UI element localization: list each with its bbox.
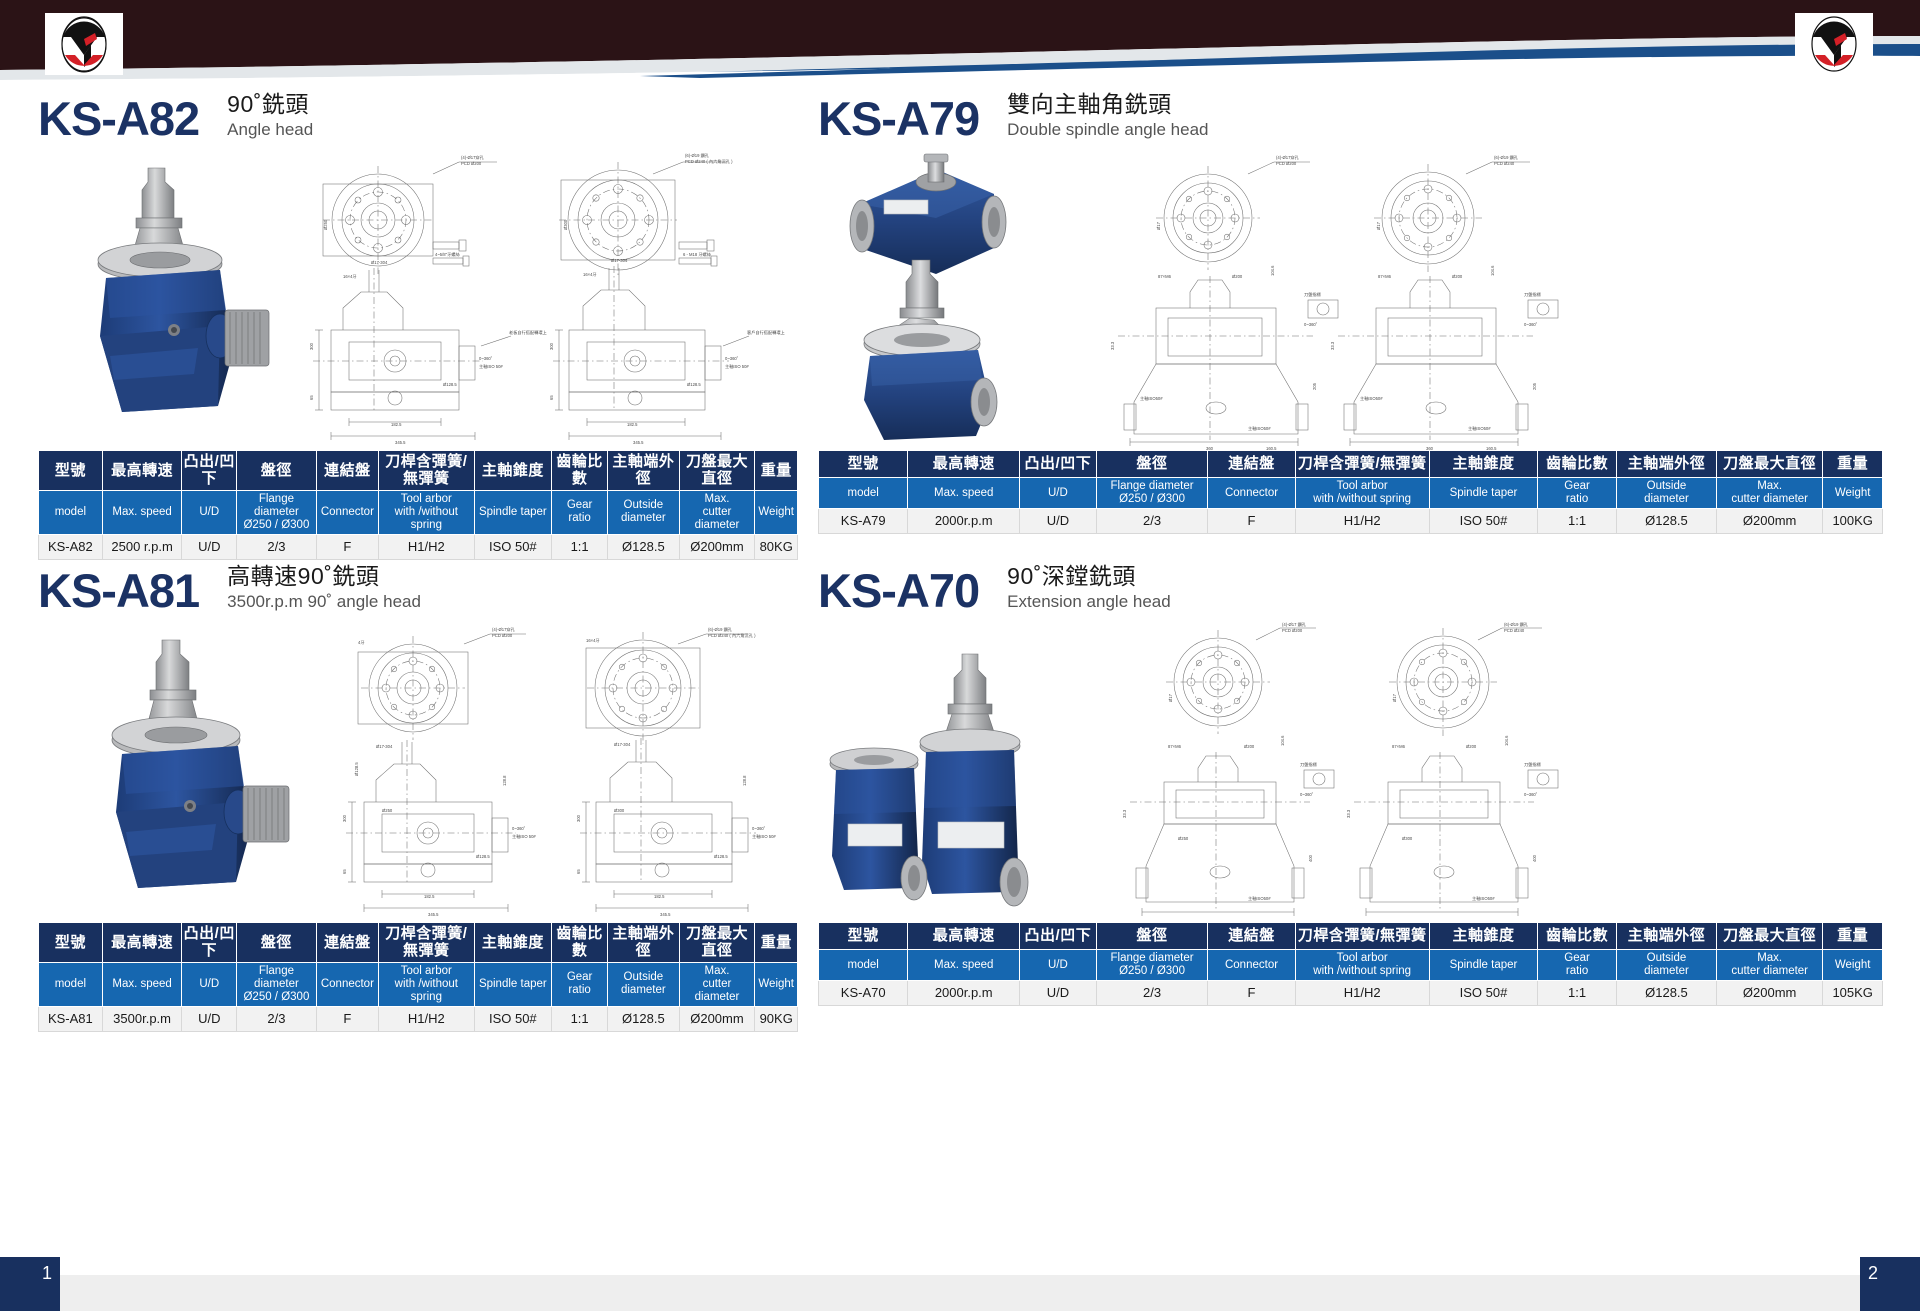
svg-text:16×4牙: 16×4牙 <box>586 638 600 644</box>
svg-text:主軸ISO 50#: 主軸ISO 50# <box>512 833 536 840</box>
svg-text:刀盤指標: 刀盤指標 <box>1300 761 1318 768</box>
cell-gear-ratio: 1:1 <box>552 1007 608 1032</box>
th-cn-ud: 凸出/凹下 <box>1020 451 1097 478</box>
svg-text:刀盤指標: 刀盤指標 <box>1304 291 1322 298</box>
svg-text:65: 65 <box>576 869 581 874</box>
product-photo <box>70 160 300 445</box>
page-number-right: 2 <box>1860 1257 1920 1311</box>
svg-text:182.5: 182.5 <box>627 422 638 427</box>
th-en-tool-arbor: Tool arborwith /without spring <box>1295 950 1429 981</box>
svg-text:主軸ISO 50#: 主軸ISO 50# <box>752 833 776 840</box>
th-en-max-cutter: Max.cutter diameter <box>1716 478 1822 509</box>
svg-text:205: 205 <box>1532 382 1537 390</box>
svg-text:Ø17: Ø17 <box>1392 693 1397 702</box>
svg-text:Ø300: Ø300 <box>1402 836 1413 841</box>
model-code: KS-A70 <box>818 567 979 614</box>
th-en-max-cutter: Max.cutter diameter <box>679 490 755 535</box>
th-en-ud: U/D <box>182 962 237 1007</box>
th-cn-outside-dia: 主軸端外徑 <box>608 923 679 963</box>
cell-max-speed: 2000r.p.m <box>908 509 1020 534</box>
table-header-en-row: model Max. speed U/D Flange diameterØ250… <box>819 478 1883 509</box>
th-cn-max-cutter: 刀盤最大直徑 <box>679 923 755 963</box>
cell-flange: 2/3 <box>1096 981 1208 1006</box>
svg-text:6 - M18 牙螺絲: 6 - M18 牙螺絲 <box>683 251 712 258</box>
table-header-cn-row: 型號 最高轉速 凸出/凹下 盤徑 連結盤 刀桿含彈簧/無彈簧 主軸錐度 齒輪比數… <box>39 451 798 491</box>
extension-angle-head-photo <box>818 626 1088 922</box>
svg-text:刀盤指標: 刀盤指標 <box>1524 761 1542 768</box>
svg-text:主軸ISO50#: 主軸ISO50# <box>1360 395 1383 402</box>
th-en-weight: Weight <box>755 490 798 535</box>
svg-text:345.5: 345.5 <box>660 912 671 917</box>
th-en-spindle-taper: Spindle taper <box>474 962 551 1007</box>
th-en-max-cutter: Max.cutter diameter <box>679 962 755 1007</box>
cell-outside-dia: Ø128.5 <box>1616 509 1716 534</box>
svg-text:Ø128.5: Ø128.5 <box>714 854 728 859</box>
dimension-drawings: (4)-Ø17 鑽孔 PCD Ø200 (6)-Ø19 鑽孔 PCD Ø240 … <box>1098 622 1878 922</box>
section-title-row: KS-A82 90˚銑頭 Angle head <box>38 78 798 142</box>
svg-text:4牙: 4牙 <box>358 640 365 646</box>
title-en: 3500r.p.m 90˚ angle head <box>227 592 421 612</box>
svg-text:33.3: 33.3 <box>1122 809 1127 818</box>
svg-text:33.3: 33.3 <box>1330 341 1335 350</box>
svg-text:Ø17-304: Ø17-304 <box>376 744 393 749</box>
svg-text:主軸ISO 50#: 主軸ISO 50# <box>725 363 749 370</box>
company-logo-icon <box>1803 15 1865 73</box>
svg-text:182.5: 182.5 <box>424 894 435 899</box>
svg-text:Ø300: Ø300 <box>563 219 568 230</box>
section-ks-a81: KS-A81 高轉速90˚銑頭 3500r.p.m 90˚ angle head <box>38 550 798 1032</box>
th-en-ud: U/D <box>1020 478 1097 509</box>
th-en-spindle-taper: Spindle taper <box>474 490 551 535</box>
cell-spindle-taper: ISO 50# <box>474 1007 551 1032</box>
th-en-max-speed: Max. speed <box>102 962 182 1007</box>
title-cn: 高轉速90˚銑頭 <box>227 563 421 589</box>
cell-connector: F <box>316 1007 378 1032</box>
spec-table-ks-a82: 型號 最高轉速 凸出/凹下 盤徑 連結盤 刀桿含彈簧/無彈簧 主軸錐度 齒輪比數… <box>38 450 798 560</box>
spec-table-ks-a81: 型號 最高轉速 凸出/凹下 盤徑 連結盤 刀桿含彈簧/無彈簧 主軸錐度 齒輪比數… <box>38 922 798 1032</box>
table-row: KS-A79 2000r.p.m U/D 2/3 F H1/H2 ISO 50#… <box>819 509 1883 534</box>
svg-text:0~360˚: 0~360˚ <box>752 826 766 831</box>
cell-ud: U/D <box>1020 981 1097 1006</box>
cell-weight: 90KG <box>755 1007 798 1032</box>
th-cn-model: 型號 <box>39 923 103 963</box>
cell-tool-arbor: H1/H2 <box>379 1007 475 1032</box>
th-cn-ud: 凸出/凹下 <box>1020 923 1097 950</box>
th-en-connector: Connector <box>1208 478 1295 509</box>
th-en-spindle-taper: Spindle taper <box>1429 478 1538 509</box>
banner-graphic <box>0 0 1920 88</box>
th-en-gear-ratio: Gearratio <box>1538 950 1617 981</box>
th-en-flange: Flange diameterØ250 / Ø300 <box>237 490 317 535</box>
section-title-row: KS-A79 雙向主軸角銑頭 Double spindle angle head <box>818 78 1883 142</box>
th-en-connector: Connector <box>316 962 378 1007</box>
th-en-tool-arbor: Tool arborwith /without spring <box>1295 478 1429 509</box>
svg-text:客戶自行搭配轉環上: 客戶自行搭配轉環上 <box>747 329 785 336</box>
title-cn: 90˚銑頭 <box>227 91 313 117</box>
svg-text:160.5: 160.5 <box>1266 446 1277 450</box>
svg-text:PCD Ø200: PCD Ø200 <box>492 633 513 638</box>
svg-text:Ø300: Ø300 <box>614 808 625 813</box>
svg-text:360: 360 <box>1206 446 1214 450</box>
title-cn: 雙向主軸角銑頭 <box>1007 91 1208 117</box>
svg-text:0~360˚: 0~360˚ <box>479 356 493 361</box>
th-en-outside-dia: Outsidediameter <box>1616 950 1716 981</box>
th-cn-flange: 盤徑 <box>237 451 317 491</box>
svg-text:128.8: 128.8 <box>502 775 507 786</box>
spec-table-ks-a79: 型號 最高轉速 凸出/凹下 盤徑 連結盤 刀桿含彈簧/無彈簧 主軸錐度 齒輪比數… <box>818 450 1883 534</box>
svg-text:(4)-Ø17穿孔: (4)-Ø17穿孔 <box>461 154 485 161</box>
svg-text:Ø17: Ø17 <box>1376 221 1381 230</box>
svg-text:300: 300 <box>309 342 314 350</box>
highspeed-angle-head-photo <box>88 634 323 919</box>
th-en-model: model <box>39 962 103 1007</box>
figure-area: (4)-Ø17穿孔 PCD Ø200 (6)-Ø19 鑽孔 PCD Ø240 (… <box>38 622 798 922</box>
th-en-model: model <box>819 478 908 509</box>
svg-text:33.3: 33.3 <box>1110 341 1115 350</box>
title-en: Angle head <box>227 120 313 140</box>
cell-gear-ratio: 1:1 <box>1538 509 1617 534</box>
svg-text:Ø200: Ø200 <box>1232 274 1243 279</box>
th-en-max-cutter: Max.cutter diameter <box>1716 950 1822 981</box>
svg-text:104.6: 104.6 <box>1270 265 1275 276</box>
technical-drawing-bottom: (4)-Ø17 鑽孔 PCD Ø200 (6)-Ø19 鑽孔 PCD Ø240 … <box>1098 622 1878 927</box>
section-title-row: KS-A70 90˚深鏜銑頭 Extension angle head <box>818 550 1883 614</box>
svg-text:65: 65 <box>309 395 314 400</box>
th-en-flange: Flange diameterØ250 / Ø300 <box>1096 950 1208 981</box>
svg-text:65: 65 <box>549 395 554 400</box>
section-ks-a82: KS-A82 90˚銑頭 Angle head <box>38 78 798 560</box>
cell-tool-arbor: H1/H2 <box>1295 509 1429 534</box>
technical-drawing-top: (4)-Ø17穿孔 PCD Ø200 (6)-Ø19 鑽孔 PCD Ø240 8… <box>1098 150 1878 455</box>
svg-text:(6)-Ø19 鑽孔: (6)-Ø19 鑽孔 <box>708 626 733 633</box>
th-en-gear-ratio: Gearratio <box>1538 478 1617 509</box>
svg-text:主軸ISO50#: 主軸ISO50# <box>1248 425 1271 432</box>
table-header-cn-row: 型號 最高轉速 凸出/凹下 盤徑 連結盤 刀桿含彈簧/無彈簧 主軸錐度 齒輪比數… <box>39 923 798 963</box>
double-spindle-head-photo <box>818 152 1088 452</box>
figure-area: (4)-Ø17 鑽孔 PCD Ø200 (6)-Ø19 鑽孔 PCD Ø240 … <box>818 622 1883 922</box>
svg-text:主軸ISO50#: 主軸ISO50# <box>1140 395 1163 402</box>
th-en-ud: U/D <box>1020 950 1097 981</box>
svg-text:300: 300 <box>549 342 554 350</box>
svg-text:87×M6: 87×M6 <box>1158 274 1172 279</box>
svg-text:4~5/8"牙螺絲: 4~5/8"牙螺絲 <box>435 251 460 258</box>
th-en-max-speed: Max. speed <box>908 478 1020 509</box>
th-en-gear-ratio: Gearratio <box>552 490 608 535</box>
cell-weight: 100KG <box>1823 509 1883 534</box>
svg-text:主軸ISO50#: 主軸ISO50# <box>1248 895 1271 902</box>
title-cn: 90˚深鏜銑頭 <box>1007 563 1171 589</box>
table-header-en-row: model Max. speed U/D Flange diameterØ250… <box>39 490 798 535</box>
th-en-connector: Connector <box>1208 950 1295 981</box>
svg-text:PCD Ø200: PCD Ø200 <box>461 161 482 166</box>
svg-text:Ø250: Ø250 <box>323 219 328 230</box>
th-cn-max-speed: 最高轉速 <box>908 923 1020 950</box>
cell-spindle-taper: ISO 50# <box>1429 981 1538 1006</box>
th-en-ud: U/D <box>182 490 237 535</box>
th-en-outside-dia: Outsidediameter <box>608 962 679 1007</box>
company-logo-icon <box>53 15 115 73</box>
svg-text:400: 400 <box>1532 854 1537 862</box>
cell-outside-dia: Ø128.5 <box>1616 981 1716 1006</box>
svg-text:345.5: 345.5 <box>395 440 406 445</box>
th-en-spindle-taper: Spindle taper <box>1429 950 1538 981</box>
dimension-drawings: (4)-Ø17穿孔 PCD Ø200 (6)-Ø19 鑽孔 PCD Ø240 8… <box>1098 150 1878 450</box>
th-en-model: model <box>819 950 908 981</box>
th-cn-model: 型號 <box>39 451 103 491</box>
th-cn-tool-arbor: 刀桿含彈簧/無彈簧 <box>379 923 475 963</box>
th-cn-tool-arbor: 刀桿含彈簧/無彈簧 <box>379 451 475 491</box>
th-cn-gear-ratio: 齒輪比數 <box>552 923 608 963</box>
th-en-tool-arbor: Tool arborwith /without spring <box>379 962 475 1007</box>
svg-text:PCD Ø240 ( 內六角沉孔 ): PCD Ø240 ( 內六角沉孔 ) <box>685 158 733 165</box>
svg-text:0~360˚: 0~360˚ <box>1300 792 1314 797</box>
svg-text:0~360˚: 0~360˚ <box>1524 322 1538 327</box>
svg-text:Ø17-304: Ø17-304 <box>611 258 628 263</box>
cell-flange: 2/3 <box>1096 509 1208 534</box>
dimension-drawings: (4)-Ø17穿孔 PCD Ø200 (6)-Ø19 鑽孔 PCD Ø240 (… <box>283 150 793 450</box>
svg-text:主軸ISO50#: 主軸ISO50# <box>1468 425 1491 432</box>
th-cn-spindle-taper: 主軸錐度 <box>474 451 551 491</box>
table-header-en-row: model Max. speed U/D Flange diameterØ250… <box>819 950 1883 981</box>
th-cn-outside-dia: 主軸端外徑 <box>608 451 679 491</box>
dimension-drawings: (4)-Ø17穿孔 PCD Ø200 (6)-Ø19 鑽孔 PCD Ø240 (… <box>318 626 798 918</box>
svg-text:87×M6: 87×M6 <box>1378 274 1392 279</box>
svg-text:0~360˚: 0~360˚ <box>512 826 526 831</box>
svg-text:182.5: 182.5 <box>654 894 665 899</box>
th-en-weight: Weight <box>1823 950 1883 981</box>
svg-text:345.5: 345.5 <box>428 912 439 917</box>
cell-outside-dia: Ø128.5 <box>608 1007 679 1032</box>
svg-text:PCD Ø240: PCD Ø240 <box>1504 628 1525 633</box>
angle-head-photo <box>70 160 300 445</box>
th-en-connector: Connector <box>316 490 378 535</box>
product-photo <box>818 152 1088 452</box>
th-en-outside-dia: Outsidediameter <box>1616 478 1716 509</box>
th-cn-connector: 連結盤 <box>316 451 378 491</box>
th-en-flange: Flange diameterØ250 / Ø300 <box>1096 478 1208 509</box>
cell-model: KS-A79 <box>819 509 908 534</box>
svg-text:16×4牙: 16×4牙 <box>343 274 357 280</box>
svg-text:(4)-Ø17穿孔: (4)-Ø17穿孔 <box>1276 154 1300 161</box>
cell-model: KS-A70 <box>819 981 908 1006</box>
footer-band <box>0 1275 1920 1311</box>
th-en-tool-arbor: Tool arborwith /without spring <box>379 490 475 535</box>
svg-text:104.6: 104.6 <box>1504 735 1509 746</box>
svg-text:Ø17-304: Ø17-304 <box>371 260 388 265</box>
th-cn-model: 型號 <box>819 923 908 950</box>
logo-right <box>1795 13 1873 75</box>
title-en: Extension angle head <box>1007 592 1171 612</box>
th-en-max-speed: Max. speed <box>102 490 182 535</box>
svg-text:Ø128.5: Ø128.5 <box>443 382 457 387</box>
th-cn-max-speed: 最高轉速 <box>908 451 1020 478</box>
svg-text:360: 360 <box>1426 446 1434 450</box>
svg-text:主軸ISO 50#: 主軸ISO 50# <box>479 363 503 370</box>
svg-text:0~360˚: 0~360˚ <box>1304 322 1318 327</box>
title-en: Double spindle angle head <box>1007 120 1208 140</box>
svg-text:182.5: 182.5 <box>391 422 402 427</box>
svg-text:16×4牙: 16×4牙 <box>583 272 597 278</box>
cell-flange: 2/3 <box>237 1007 317 1032</box>
cell-max-cutter: Ø200mm <box>679 1007 755 1032</box>
th-cn-connector: 連結盤 <box>316 923 378 963</box>
model-code: KS-A81 <box>38 567 199 614</box>
th-cn-max-cutter: 刀盤最大直徑 <box>679 451 755 491</box>
model-code: KS-A82 <box>38 95 199 142</box>
svg-text:87×M6: 87×M6 <box>1392 744 1406 749</box>
svg-text:Ø250: Ø250 <box>382 808 393 813</box>
technical-drawing-bottom: (4)-Ø17穿孔 PCD Ø200 (6)-Ø19 鑽孔 PCD Ø240 (… <box>318 626 798 923</box>
svg-text:PCD Ø240 ( 內六角沉孔 ): PCD Ø240 ( 內六角沉孔 ) <box>708 632 756 639</box>
svg-text:Ø17: Ø17 <box>1168 693 1173 702</box>
svg-text:Ø17-304: Ø17-304 <box>614 742 631 747</box>
svg-text:33.3: 33.3 <box>1346 809 1351 818</box>
svg-text:0~360˚: 0~360˚ <box>1524 792 1538 797</box>
figure-area: (4)-Ø17穿孔 PCD Ø200 (6)-Ø19 鑽孔 PCD Ø240 (… <box>38 150 798 450</box>
figure-area: (4)-Ø17穿孔 PCD Ø200 (6)-Ø19 鑽孔 PCD Ø240 8… <box>818 150 1883 450</box>
svg-text:Ø200: Ø200 <box>1466 744 1477 749</box>
svg-text:(6)-Ø19 鑽孔: (6)-Ø19 鑽孔 <box>685 152 710 159</box>
cell-max-speed: 3500r.p.m <box>102 1007 182 1032</box>
cell-ud: U/D <box>1020 509 1097 534</box>
svg-text:主軸ISO50#: 主軸ISO50# <box>1472 895 1495 902</box>
th-en-gear-ratio: Gearratio <box>552 962 608 1007</box>
svg-text:205: 205 <box>1312 382 1317 390</box>
th-cn-weight: 重量 <box>755 923 798 963</box>
cell-tool-arbor: H1/H2 <box>1295 981 1429 1006</box>
th-cn-model: 型號 <box>819 451 908 478</box>
model-code: KS-A79 <box>818 95 979 142</box>
th-cn-max-speed: 最高轉速 <box>102 451 182 491</box>
th-en-weight: Weight <box>1823 478 1883 509</box>
cell-ud: U/D <box>182 1007 237 1032</box>
svg-text:Ø200: Ø200 <box>1244 744 1255 749</box>
svg-text:Ø128.5: Ø128.5 <box>476 854 490 859</box>
logo-left <box>45 13 123 75</box>
svg-text:104.6: 104.6 <box>1280 735 1285 746</box>
th-en-max-speed: Max. speed <box>908 950 1020 981</box>
th-cn-max-speed: 最高轉速 <box>102 923 182 963</box>
section-title-row: KS-A81 高轉速90˚銑頭 3500r.p.m 90˚ angle head <box>38 550 798 614</box>
svg-text:(6)-Ø19 鑽孔: (6)-Ø19 鑽孔 <box>1494 154 1519 161</box>
svg-text:0~360˚: 0~360˚ <box>725 356 739 361</box>
svg-text:(4)-Ø17穿孔: (4)-Ø17穿孔 <box>492 626 516 633</box>
cell-connector: F <box>1208 981 1295 1006</box>
technical-drawing-top: (4)-Ø17穿孔 PCD Ø200 (6)-Ø19 鑽孔 PCD Ø240 (… <box>283 150 793 455</box>
svg-text:104.6: 104.6 <box>1490 265 1495 276</box>
svg-text:300: 300 <box>342 814 347 822</box>
svg-text:刀盤指標: 刀盤指標 <box>1524 291 1542 298</box>
svg-text:400: 400 <box>1308 854 1313 862</box>
svg-text:128.8: 128.8 <box>742 775 747 786</box>
svg-text:Ø17: Ø17 <box>1156 221 1161 230</box>
svg-text:老板自行搭配轉環上: 老板自行搭配轉環上 <box>509 329 547 336</box>
svg-text:PCD Ø240: PCD Ø240 <box>1494 161 1515 166</box>
spec-table-ks-a70: 型號 最高轉速 凸出/凹下 盤徑 連結盤 刀桿含彈簧/無彈簧 主軸錐度 齒輪比數… <box>818 922 1883 1006</box>
svg-text:160.5: 160.5 <box>1486 446 1497 450</box>
cell-model: KS-A81 <box>39 1007 103 1032</box>
th-cn-weight: 重量 <box>755 451 798 491</box>
svg-text:Ø128.5: Ø128.5 <box>687 382 701 387</box>
table-row: KS-A81 3500r.p.m U/D 2/3 F H1/H2 ISO 50#… <box>39 1007 798 1032</box>
th-en-outside-dia: Outsidediameter <box>608 490 679 535</box>
cell-spindle-taper: ISO 50# <box>1429 509 1538 534</box>
th-cn-flange: 盤徑 <box>237 923 317 963</box>
section-ks-a79: KS-A79 雙向主軸角銑頭 Double spindle angle head <box>818 78 1883 534</box>
product-photo <box>88 634 323 919</box>
svg-text:PCD Ø200: PCD Ø200 <box>1282 628 1303 633</box>
svg-text:65: 65 <box>342 869 347 874</box>
cell-max-speed: 2000r.p.m <box>908 981 1020 1006</box>
header-banner <box>0 0 1920 88</box>
cell-gear-ratio: 1:1 <box>1538 981 1617 1006</box>
table-row: KS-A70 2000r.p.m U/D 2/3 F H1/H2 ISO 50#… <box>819 981 1883 1006</box>
cell-max-cutter: Ø200mm <box>1716 981 1822 1006</box>
th-en-weight: Weight <box>755 962 798 1007</box>
svg-text:PCD Ø200: PCD Ø200 <box>1276 161 1297 166</box>
cell-connector: F <box>1208 509 1295 534</box>
th-en-flange: Flange diameterØ250 / Ø300 <box>237 962 317 1007</box>
cell-weight: 105KG <box>1823 981 1883 1006</box>
th-cn-ud: 凸出/凹下 <box>182 923 237 963</box>
product-photo <box>818 626 1088 922</box>
svg-text:87×M6: 87×M6 <box>1168 744 1182 749</box>
svg-text:Ø200: Ø200 <box>1452 274 1463 279</box>
catalog-page: KS-A82 90˚銑頭 Angle head <box>0 0 1920 1311</box>
svg-text:Ø128.5: Ø128.5 <box>354 762 359 776</box>
svg-text:Ø250: Ø250 <box>1178 836 1189 841</box>
page-number-left: 1 <box>0 1257 60 1311</box>
section-ks-a70: KS-A70 90˚深鏜銑頭 Extension angle head <box>818 550 1883 1006</box>
th-cn-ud: 凸出/凹下 <box>182 451 237 491</box>
svg-text:345.5: 345.5 <box>633 440 644 445</box>
th-en-model: model <box>39 490 103 535</box>
svg-text:300: 300 <box>576 814 581 822</box>
table-header-en-row: model Max. speed U/D Flange diameterØ250… <box>39 962 798 1007</box>
cell-max-cutter: Ø200mm <box>1716 509 1822 534</box>
th-cn-spindle-taper: 主軸錐度 <box>474 923 551 963</box>
th-cn-gear-ratio: 齒輪比數 <box>552 451 608 491</box>
